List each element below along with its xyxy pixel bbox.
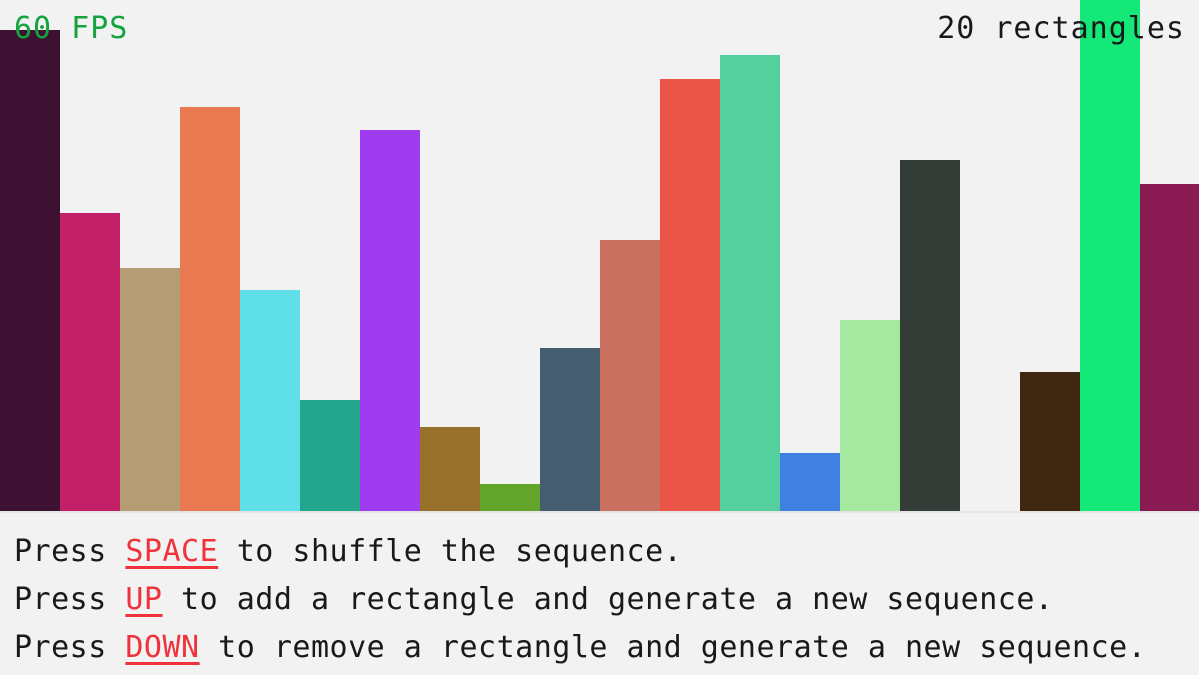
- instruction-prefix: Press: [14, 630, 125, 665]
- bar-rectangle: [1020, 372, 1080, 512]
- rectangle-count-label: 20 rectangles: [937, 14, 1185, 44]
- chart-baseline: [0, 511, 1199, 513]
- bar-rectangle: [540, 348, 600, 512]
- key-hint-space[interactable]: SPACE: [125, 534, 218, 569]
- instructions-panel: Press SPACE to shuffle the sequence.Pres…: [0, 514, 1199, 675]
- bar-rectangle: [480, 484, 540, 512]
- bar-rectangle: [240, 290, 300, 512]
- instruction-prefix: Press: [14, 582, 125, 617]
- bar-rectangle: [180, 107, 240, 512]
- bar-rectangle: [840, 320, 900, 512]
- bar-rectangle: [60, 213, 120, 512]
- instruction-line-1: Press SPACE to shuffle the sequence.: [14, 528, 1199, 576]
- bar-rectangle: [1080, 0, 1140, 512]
- bar-rectangle: [360, 130, 420, 512]
- instruction-suffix: to add a rectangle and generate a new se…: [163, 582, 1054, 617]
- instruction-prefix: Press: [14, 534, 125, 569]
- key-hint-down[interactable]: DOWN: [125, 630, 199, 665]
- bar-rectangle: [420, 427, 480, 512]
- bar-rectangle: [1140, 184, 1199, 512]
- bar-rectangle: [0, 30, 60, 512]
- bar-rectangle: [120, 268, 180, 512]
- key-hint-up[interactable]: UP: [125, 582, 162, 617]
- bar-rectangle: [720, 55, 780, 512]
- instruction-line-2: Press UP to add a rectangle and generate…: [14, 576, 1199, 624]
- instruction-line-3: Press DOWN to remove a rectangle and gen…: [14, 624, 1199, 672]
- bar-rectangle: [660, 79, 720, 512]
- instruction-suffix: to shuffle the sequence.: [218, 534, 682, 569]
- instruction-suffix: to remove a rectangle and generate a new…: [200, 630, 1147, 665]
- bar-rectangle: [600, 240, 660, 512]
- app-root: 60 FPS 20 rectangles Press SPACE to shuf…: [0, 0, 1199, 675]
- fps-counter: 60 FPS: [14, 14, 128, 44]
- bar-rectangle: [780, 453, 840, 512]
- bar-rectangle: [300, 400, 360, 512]
- rectangle-chart[interactable]: [0, 0, 1199, 512]
- bar-rectangle: [900, 160, 960, 512]
